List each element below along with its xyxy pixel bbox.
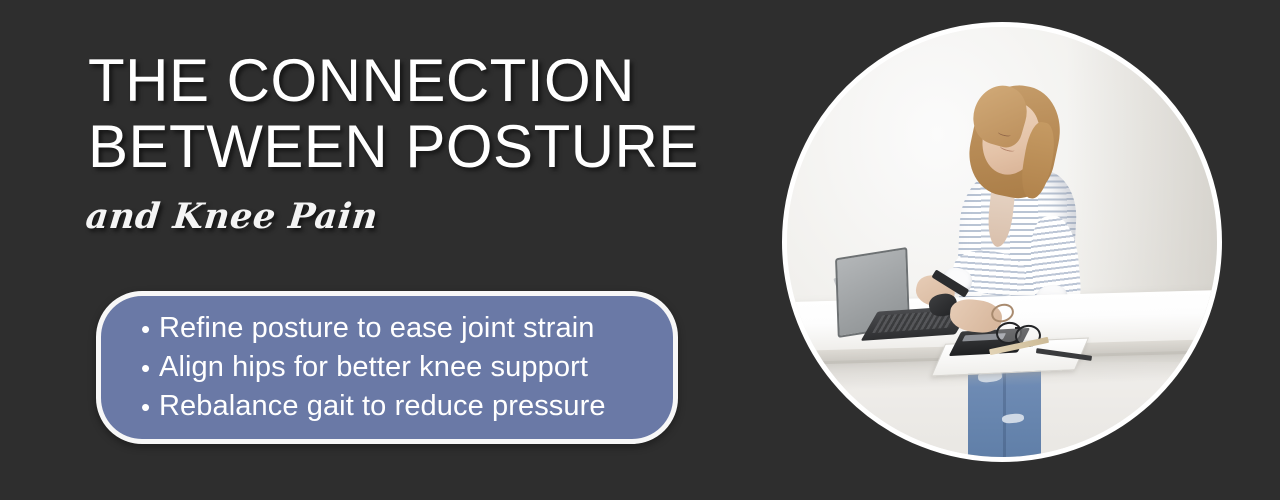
eyeglasses-bridge [1015,327,1020,329]
page-title: THE CONNECTION BETWEEN POSTURE [88,48,728,180]
subtitle: and Knee Pain [84,196,380,237]
woman-at-standing-desk-photo [782,22,1222,462]
promo-banner: THE CONNECTION BETWEEN POSTURE and Knee … [0,0,1280,500]
text-column: THE CONNECTION BETWEEN POSTURE and Knee … [0,0,760,500]
list-item: • Refine posture to ease joint strain [141,309,673,348]
photo-scene [787,27,1217,457]
benefits-card: • Refine posture to ease joint strain • … [96,291,678,444]
list-item: • Rebalance gait to reduce pressure [141,387,673,426]
bullet-dot-icon: • [141,394,159,420]
list-item: • Align hips for better knee support [141,348,673,387]
list-item-label: Refine posture to ease joint strain [159,312,595,345]
list-item-label: Rebalance gait to reduce pressure [159,390,606,423]
bullet-dot-icon: • [141,316,159,342]
list-item-label: Align hips for better knee support [159,351,588,384]
bullet-dot-icon: • [141,355,159,381]
